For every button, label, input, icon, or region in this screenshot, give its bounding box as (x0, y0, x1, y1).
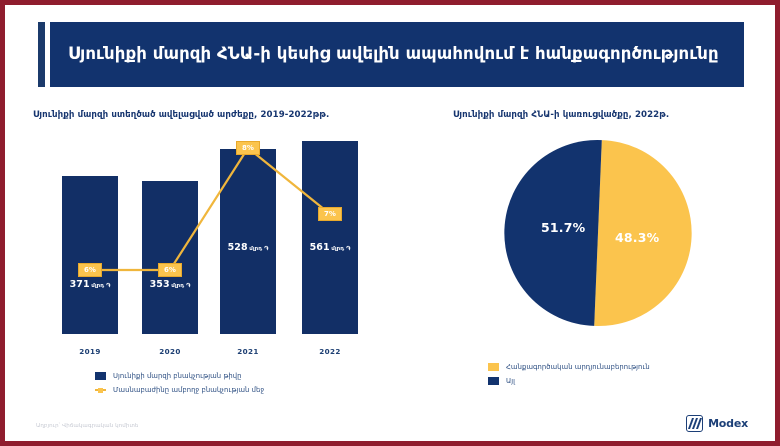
bar-value-number-2019: 371 (70, 279, 90, 290)
square-swatch-navy-icon (95, 372, 106, 380)
bar-2021: 528մլրդ ֏ (220, 149, 276, 334)
square-swatch-navy-icon-2 (488, 377, 499, 385)
legend-item-mining: Հանքագործական արդյունաբերություն (488, 363, 650, 371)
bar-value-unit-2022: մլրդ ֏ (331, 246, 350, 252)
bar-value-number-2021: 528 (228, 242, 248, 253)
legend-label-other: Այլ (506, 377, 515, 385)
infographic-poster: Սյունիքի մարզի ՀՆԱ-ի կեսից ավելին ապահով… (0, 0, 780, 446)
legend-item-population: Սյունիքի մարզի բնակչության թիվը (95, 372, 264, 380)
pie-label-other: 48.3% (615, 230, 659, 245)
x-axis-label-2021: 2021 (220, 347, 276, 356)
pct-marker-2021: 8% (236, 141, 260, 155)
bar-chart-legend: Սյունիքի մարզի բնակչության թիվը Մասնաբաժ… (95, 372, 264, 394)
square-swatch-gold-icon (488, 363, 499, 371)
pie-chart-legend: Հանքագործական արդյունաբերություն Այլ (488, 363, 650, 385)
brand-logo: Modex (686, 415, 748, 432)
x-axis-label-2019: 2019 (62, 347, 118, 356)
source-note: Աղբյուր՝ Վիճակագրական կոմիտե (36, 423, 139, 429)
bar-value-unit-2019: մլրդ ֏ (91, 283, 110, 289)
pie-svg (503, 138, 693, 328)
bar-value-number-2020: 353 (150, 279, 170, 290)
bar-value-2022: 561մլրդ ֏ (302, 235, 358, 254)
brand-name: Modex (708, 417, 748, 430)
pie-label-mining: 51.7% (541, 220, 585, 235)
frame-border-top (0, 0, 780, 5)
x-axis-label-2022: 2022 (302, 347, 358, 356)
bar-2019: 371մլրդ ֏ (62, 176, 118, 334)
bar-chart: 371մլրդ ֏ 2019 353մլրդ ֏ 2020 528մլրդ ֏ … (30, 132, 410, 364)
bar-chart-subtitle: Սյունիքի մարզի ստեղծած ավելացված արժեքը,… (33, 110, 329, 120)
modex-mark-icon (686, 415, 703, 432)
legend-label-share: Մասնաբաժինը ամբողջ բնակչության մեջ (113, 386, 264, 394)
title-banner: Սյունիքի մարզի ՀՆԱ-ի կեսից ավելին ապահով… (38, 22, 744, 87)
title-accent-bar (38, 22, 45, 87)
bar-2020: 353մլրդ ֏ (142, 181, 198, 334)
frame-border-left (0, 0, 5, 446)
pct-marker-2022: 7% (318, 207, 342, 221)
legend-item-other: Այլ (488, 377, 650, 385)
bar-value-unit-2020: մլրդ ֏ (171, 283, 190, 289)
line-marker-swatch-gold-icon (95, 386, 106, 394)
x-axis-label-2020: 2020 (142, 347, 198, 356)
legend-label-mining: Հանքագործական արդյունաբերություն (506, 363, 650, 371)
legend-label-population: Սյունիքի մարզի բնակչության թիվը (113, 372, 242, 380)
bar-value-2021: 528մլրդ ֏ (220, 235, 276, 254)
page-title: Սյունիքի մարզի ՀՆԱ-ի կեսից ավելին ապահով… (68, 43, 719, 65)
pie-chart-subtitle: Սյունիքի մարզի ՀՆԱ-ի կառուցվածքը, 2022թ. (453, 110, 669, 120)
title-band: Սյունիքի մարզի ՀՆԱ-ի կեսից ավելին ապահով… (50, 22, 744, 87)
frame-border-bottom (0, 441, 780, 446)
pie-chart: 51.7% 48.3% (503, 138, 693, 328)
legend-item-share: Մասնաբաժինը ամբողջ բնակչության մեջ (95, 386, 264, 394)
bar-2022: 561մլրդ ֏ (302, 141, 358, 334)
frame-border-right (775, 0, 780, 446)
bar-value-number-2022: 561 (310, 242, 330, 253)
pct-marker-2020: 6% (158, 263, 182, 277)
bar-value-unit-2021: մլրդ ֏ (249, 246, 268, 252)
pct-marker-2019: 6% (78, 263, 102, 277)
bar-chart-panel: 371մլրդ ֏ 2019 353մլրդ ֏ 2020 528մլրդ ֏ … (30, 132, 410, 410)
trend-polyline (90, 148, 330, 270)
